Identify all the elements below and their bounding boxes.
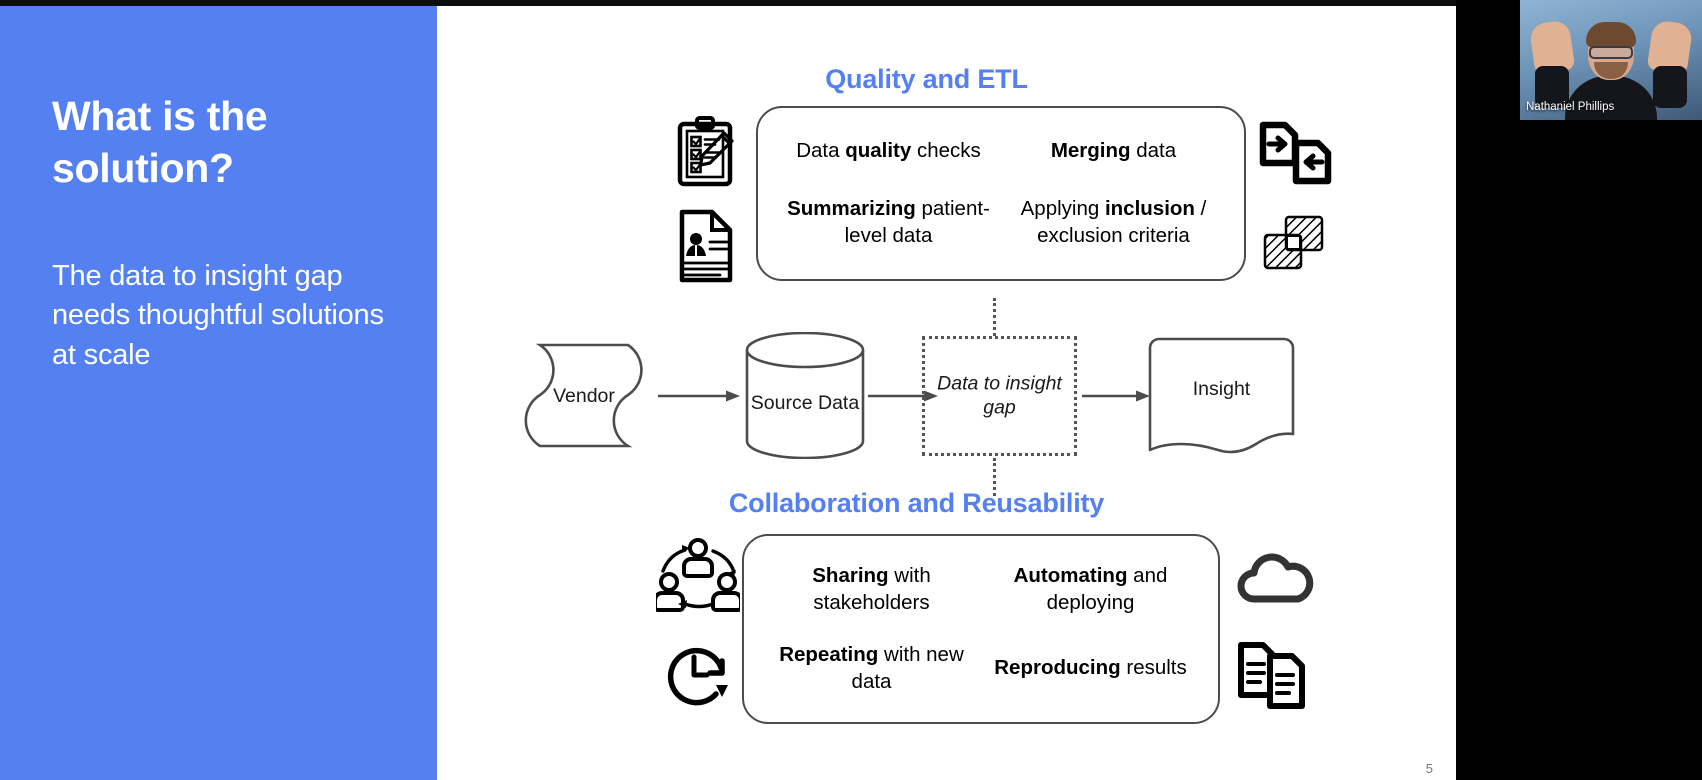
participant-name-label: Nathaniel Phillips: [1526, 101, 1614, 113]
slide-content-area: Quality and ETL: [437, 6, 1456, 780]
cell-suffix: data: [1131, 139, 1177, 162]
cell-prefix: Data: [796, 139, 845, 162]
flow-node-label: Data to insight gap: [925, 372, 1074, 421]
quality-cell-1: Merging data: [1001, 132, 1226, 171]
flow-node-vendor: Vendor: [510, 343, 658, 448]
participant-hair: [1586, 22, 1636, 48]
slide-subtitle: The data to insight gap needs thoughtful…: [52, 257, 391, 375]
webcam-thumbnail[interactable]: Nathaniel Phillips: [1520, 0, 1702, 120]
collaboration-reusability-box: Sharing with stakeholders Automating and…: [742, 534, 1220, 724]
sleeve-right: [1653, 66, 1687, 108]
collab-cell-1: Automating and deploying: [981, 557, 1200, 622]
cell-bold: Reproducing: [994, 656, 1120, 679]
cell-bold: inclusion: [1105, 197, 1195, 220]
page-title: What is the solution?: [52, 90, 391, 195]
flow-arrow-1: [658, 389, 742, 403]
presentation-screen: What is the solution? The data to insigh…: [0, 0, 1702, 780]
clock-repeat-icon: [655, 636, 741, 714]
cell-suffix: results: [1121, 656, 1187, 679]
flow-node-source-data: Source Data: [743, 332, 867, 459]
collab-cell-0: Sharing with stakeholders: [762, 557, 981, 622]
cell-bold: quality: [845, 139, 911, 162]
copy-documents-icon: [1235, 638, 1315, 714]
flow-arrow-3: [1082, 389, 1152, 403]
flow-node-data-to-insight-gap: Data to insight gap: [922, 336, 1077, 456]
cell-bold: Merging: [1051, 139, 1131, 162]
collab-cell-3: Reproducing results: [981, 649, 1200, 688]
people-collaboration-icon: [655, 536, 741, 618]
merge-documents-icon: [1257, 118, 1337, 190]
overlapping-tiles-icon: [1259, 211, 1329, 275]
quality-etl-box: Data quality checks Merging data Summari…: [756, 106, 1246, 281]
data-flow-diagram: Vendor Source Data: [437, 306, 1456, 486]
section-heading-collaboration: Collaboration and Reusability: [407, 488, 1426, 519]
quality-cell-3: Applying inclusion / exclusion criteria: [1001, 190, 1226, 255]
dotted-connector-up: [993, 298, 996, 336]
collab-cell-2: Repeating with new data: [762, 636, 981, 701]
patient-document-icon: [673, 206, 739, 286]
clipboard-checklist-icon: [673, 114, 739, 190]
cell-suffix: checks: [911, 139, 981, 162]
cell-prefix: Applying: [1021, 197, 1105, 220]
cell-bold: Automating: [1014, 564, 1128, 587]
flow-node-insight: Insight: [1147, 336, 1296, 456]
quality-cell-2: Summarizing patient-level data: [776, 190, 1001, 255]
section-heading-quality: Quality and ETL: [417, 64, 1436, 95]
slide-canvas: What is the solution? The data to insigh…: [0, 6, 1456, 780]
glasses-icon: [1589, 46, 1633, 59]
cloud-icon: [1235, 546, 1315, 608]
slide-left-panel: What is the solution? The data to insigh…: [0, 6, 437, 780]
cell-bold: Sharing: [812, 564, 888, 587]
quality-cell-0: Data quality checks: [776, 132, 1001, 171]
cell-bold: Repeating: [779, 643, 878, 666]
slide-number: 5: [1426, 761, 1433, 776]
cell-bold: Summarizing: [787, 197, 916, 220]
